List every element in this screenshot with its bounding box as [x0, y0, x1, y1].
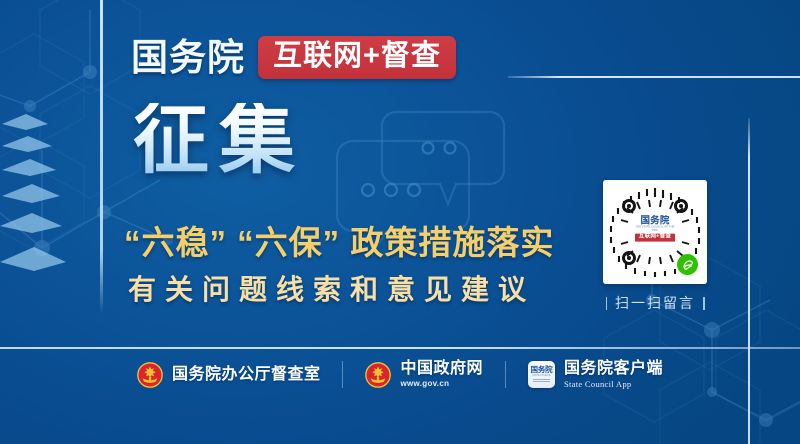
- scan-tick-left-icon: [606, 297, 608, 310]
- subtitle-line-2: 有关问题线索和意见建议: [128, 273, 535, 307]
- scan-hint: 扫一扫留言: [600, 293, 710, 313]
- footer-item-state-council-app[interactable]: 国务院 STATE COUNCIL 国务院客户端 State Council A…: [506, 360, 685, 389]
- footer: 国务院办公厅督查室 中国政府网 www.gov.cn 国务院 STATE COU…: [0, 360, 800, 389]
- qr-center-logo: 国务院 THE STATE COUNCIL OF THE PRC 互联网+督查: [634, 214, 676, 243]
- app-icon-title: 国务院: [531, 366, 553, 374]
- qr-logo-pinyin: THE STATE COUNCIL OF THE PRC: [635, 227, 675, 233]
- organization-name: 国务院: [131, 39, 245, 76]
- wechat-miniprogram-icon: [677, 254, 698, 275]
- footer-text-block: 中国政府网 www.gov.cn: [400, 360, 483, 389]
- footer-label: 国务院客户端: [564, 360, 663, 378]
- horizontal-accent-line-top: [508, 76, 800, 78]
- state-council-app-icon: 国务院 STATE COUNCIL: [528, 361, 555, 388]
- header: 国务院 互联网+督查: [131, 36, 456, 79]
- page-title: 征集: [133, 103, 305, 179]
- vertical-accent-line-left: [100, 0, 103, 314]
- scan-tick-right-icon: [703, 297, 705, 310]
- scan-hint-text: 扫一扫留言: [615, 293, 695, 313]
- qr-code-card[interactable]: 国务院 THE STATE COUNCIL OF THE PRC 互联网+督查: [603, 180, 707, 284]
- subtitle-line-1: “六稳” “六保” 政策措施落实: [124, 223, 554, 263]
- qr-logo-badge: 互联网+督查: [635, 234, 675, 242]
- app-icon-lines: [533, 379, 550, 383]
- footer-item-gov-cn[interactable]: 中国政府网 www.gov.cn: [343, 360, 505, 389]
- footer-text-block: 国务院客户端 State Council App: [564, 360, 663, 389]
- national-emblem-icon: [137, 362, 163, 388]
- app-icon-pinyin: STATE COUNCIL: [532, 375, 551, 378]
- footer-sublabel: State Council App: [564, 380, 663, 390]
- program-badge: 互联网+督查: [258, 36, 456, 79]
- qr-block[interactable]: 国务院 THE STATE COUNCIL OF THE PRC 互联网+督查 …: [600, 180, 710, 313]
- footer-label: 中国政府网: [400, 360, 483, 378]
- national-emblem-icon: [365, 362, 391, 388]
- footer-divider-line: [0, 347, 800, 349]
- vertical-accent-line-right: [748, 118, 750, 444]
- poster-root: 国务院 互联网+督查 征集 “六稳” “六保” 政策措施落实 有关问题线索和意见…: [0, 0, 800, 444]
- footer-sublabel: www.gov.cn: [400, 380, 483, 389]
- footer-item-state-council-office[interactable]: 国务院办公厅督查室: [115, 362, 343, 388]
- footer-text-block: 国务院办公厅督查室: [172, 366, 321, 384]
- footer-label: 国务院办公厅督查室: [172, 366, 321, 384]
